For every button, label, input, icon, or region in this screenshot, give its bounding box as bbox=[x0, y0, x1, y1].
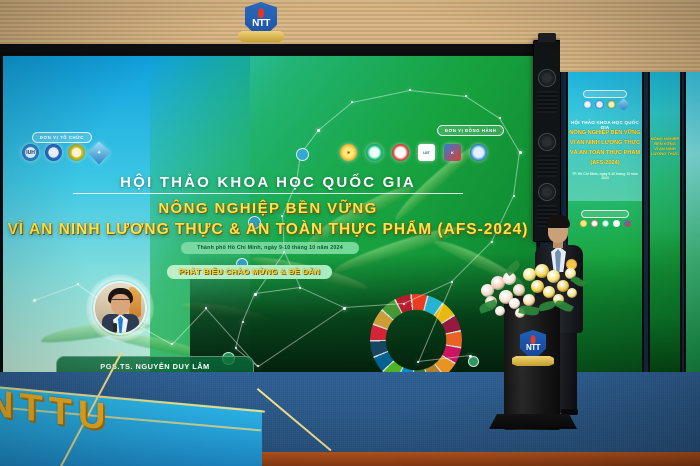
portrait-microphone-icon bbox=[113, 323, 117, 333]
side-banner-logo-row bbox=[568, 100, 642, 109]
flower-leaf bbox=[554, 298, 574, 314]
speaker-name: PGS.TS. NGUYỄN DUY LÂM bbox=[57, 362, 253, 371]
side-banner-secondary: NÔNG NGHIỆP BỀN VỮNG VÌ AN NINH LƯƠNG TH… bbox=[648, 52, 682, 382]
portrait-glasses-icon bbox=[111, 299, 130, 305]
side-banner-tertiary bbox=[684, 56, 700, 382]
flower-leaf bbox=[538, 301, 555, 312]
speaker-grill bbox=[537, 91, 557, 113]
ntt-wall-logo-ribbon bbox=[238, 31, 284, 42]
banner-title-line3: VÌ AN NINH LƯƠNG THỰC & AN TOÀN THỰC PHẨ… bbox=[0, 221, 536, 239]
network-link bbox=[172, 308, 207, 345]
ceiling-slats-right bbox=[560, 0, 700, 72]
speaker-rigging-bracket bbox=[538, 33, 556, 42]
line-array-speaker bbox=[533, 40, 561, 242]
speaker-driver-icon bbox=[538, 69, 556, 87]
side-banner-date: TP. Hồ Chí Minh, ngày 9-10 tháng 10 năm … bbox=[568, 172, 642, 180]
screenshot-root: NTT ĐƠN VỊ TỔ CHỨC IUH NTT ★ ✦ ĐƠN VỊ ĐỒ… bbox=[0, 0, 700, 466]
sponsor-logo-agri: ✚ bbox=[392, 144, 409, 161]
organizers-label: ĐƠN VỊ TỔ CHỨC bbox=[32, 132, 92, 143]
flower-bloom bbox=[495, 306, 505, 316]
network-link bbox=[34, 284, 78, 301]
network-icon-chip bbox=[296, 148, 309, 161]
sponsors-label: ĐƠN VỊ ĐỒNG HÀNH bbox=[437, 125, 504, 136]
network-link bbox=[344, 303, 404, 308]
network-link bbox=[418, 355, 470, 362]
session-tag: PHÁT BIỂU CHÀO MỪNG & ĐỀ DẪN bbox=[167, 265, 332, 279]
flower-bloom bbox=[523, 294, 535, 306]
presenter-hair bbox=[546, 215, 570, 228]
organizer-logo-iuh: IUH bbox=[22, 144, 39, 161]
banner-title-line1: HỘI THẢO KHOA HỌC QUỐC GIA bbox=[0, 174, 536, 191]
side-logo-3 bbox=[607, 100, 616, 109]
ntt-wall-logo-text: NTT bbox=[245, 18, 277, 29]
side-sponsor-2 bbox=[591, 220, 598, 227]
side-banner2-line3: VÌ AN NINH LƯƠNG THỰC bbox=[650, 146, 680, 156]
network-link bbox=[410, 90, 466, 97]
organizer-logo-vaas: ✦ bbox=[88, 141, 111, 164]
speaker-grill bbox=[537, 155, 557, 177]
network-link bbox=[499, 118, 520, 152]
network-link bbox=[258, 308, 345, 367]
organizer-logo-row: IUH NTT ★ ✦ bbox=[22, 144, 107, 161]
side-banner2-foliage bbox=[650, 230, 680, 380]
side-sponsor-3 bbox=[602, 220, 609, 227]
banner-title-line2: NÔNG NGHIỆP BỀN VỮNG bbox=[0, 200, 536, 217]
side-logo-2 bbox=[595, 100, 604, 109]
network-link bbox=[255, 287, 300, 294]
sponsor-logo-vietphong: ↗ bbox=[470, 144, 487, 161]
flower-arrangement bbox=[479, 262, 581, 318]
speaker-portrait bbox=[95, 283, 145, 333]
side-banner2-line2: NÔNG NGHIỆP BỀN VỮNG bbox=[650, 136, 680, 146]
network-link bbox=[242, 294, 255, 322]
speaker-driver-icon bbox=[538, 133, 556, 151]
flower-bloom bbox=[567, 288, 577, 298]
organizer-logo-mard: ★ bbox=[68, 144, 85, 161]
sponsor-logo-row: ☀ ◎ ✚ LBT K ↗ bbox=[340, 144, 487, 161]
main-led-screen: ĐƠN VỊ TỔ CHỨC IUH NTT ★ ✦ ĐƠN VỊ ĐỒNG H… bbox=[0, 56, 536, 372]
side-banner-line3: VÌ AN NINH LƯƠNG THỰC bbox=[568, 140, 642, 146]
title-underline bbox=[73, 193, 463, 194]
side-banner3-bg bbox=[686, 58, 700, 380]
side-sponsor-4 bbox=[613, 220, 620, 227]
podium-base bbox=[489, 414, 577, 429]
side-logo-4 bbox=[617, 98, 630, 111]
sponsor-logo-green: ◎ bbox=[366, 144, 383, 161]
side-banner-organizers-pill bbox=[583, 90, 627, 98]
organizer-logo-ntt: NTT bbox=[45, 144, 62, 161]
side-banner-line2: NÔNG NGHIỆP BỀN VỮNG bbox=[568, 130, 642, 136]
speaker-name-plate: PGS.TS. NGUYỄN DUY LÂM CHỦ TỊCH, HỘI KHO… bbox=[56, 356, 254, 372]
banner-date-line: Thành phố Hồ Chí Minh, ngày 9-10 tháng 1… bbox=[181, 242, 359, 254]
side-banner-line1: HỘI THẢO KHOA HỌC QUỐC GIA bbox=[568, 120, 642, 130]
network-link bbox=[352, 90, 410, 103]
sponsor-logo-kcm: K bbox=[444, 144, 461, 161]
flower-bloom bbox=[513, 284, 525, 296]
network-link bbox=[300, 287, 344, 308]
side-banner-sponsors-pill bbox=[581, 210, 629, 218]
network-link bbox=[318, 102, 353, 131]
speaker-driver-icon bbox=[538, 183, 556, 201]
podium-shield-text: NTT bbox=[520, 343, 546, 352]
podium-shield-ribbon bbox=[512, 356, 554, 366]
flame-icon bbox=[258, 8, 264, 18]
network-link bbox=[465, 96, 500, 119]
sponsor-logo-libiotec: LBT bbox=[418, 144, 435, 161]
side-sponsor-5 bbox=[624, 220, 631, 227]
network-icon-chip bbox=[468, 356, 479, 367]
side-banner-line4: VÀ AN TOÀN THỰC PHẨM bbox=[568, 150, 642, 156]
side-banner-line5: (AFS-2024) bbox=[568, 160, 642, 166]
side-logo-1 bbox=[583, 100, 592, 109]
sponsor-logo-solar: ☀ bbox=[340, 144, 357, 161]
